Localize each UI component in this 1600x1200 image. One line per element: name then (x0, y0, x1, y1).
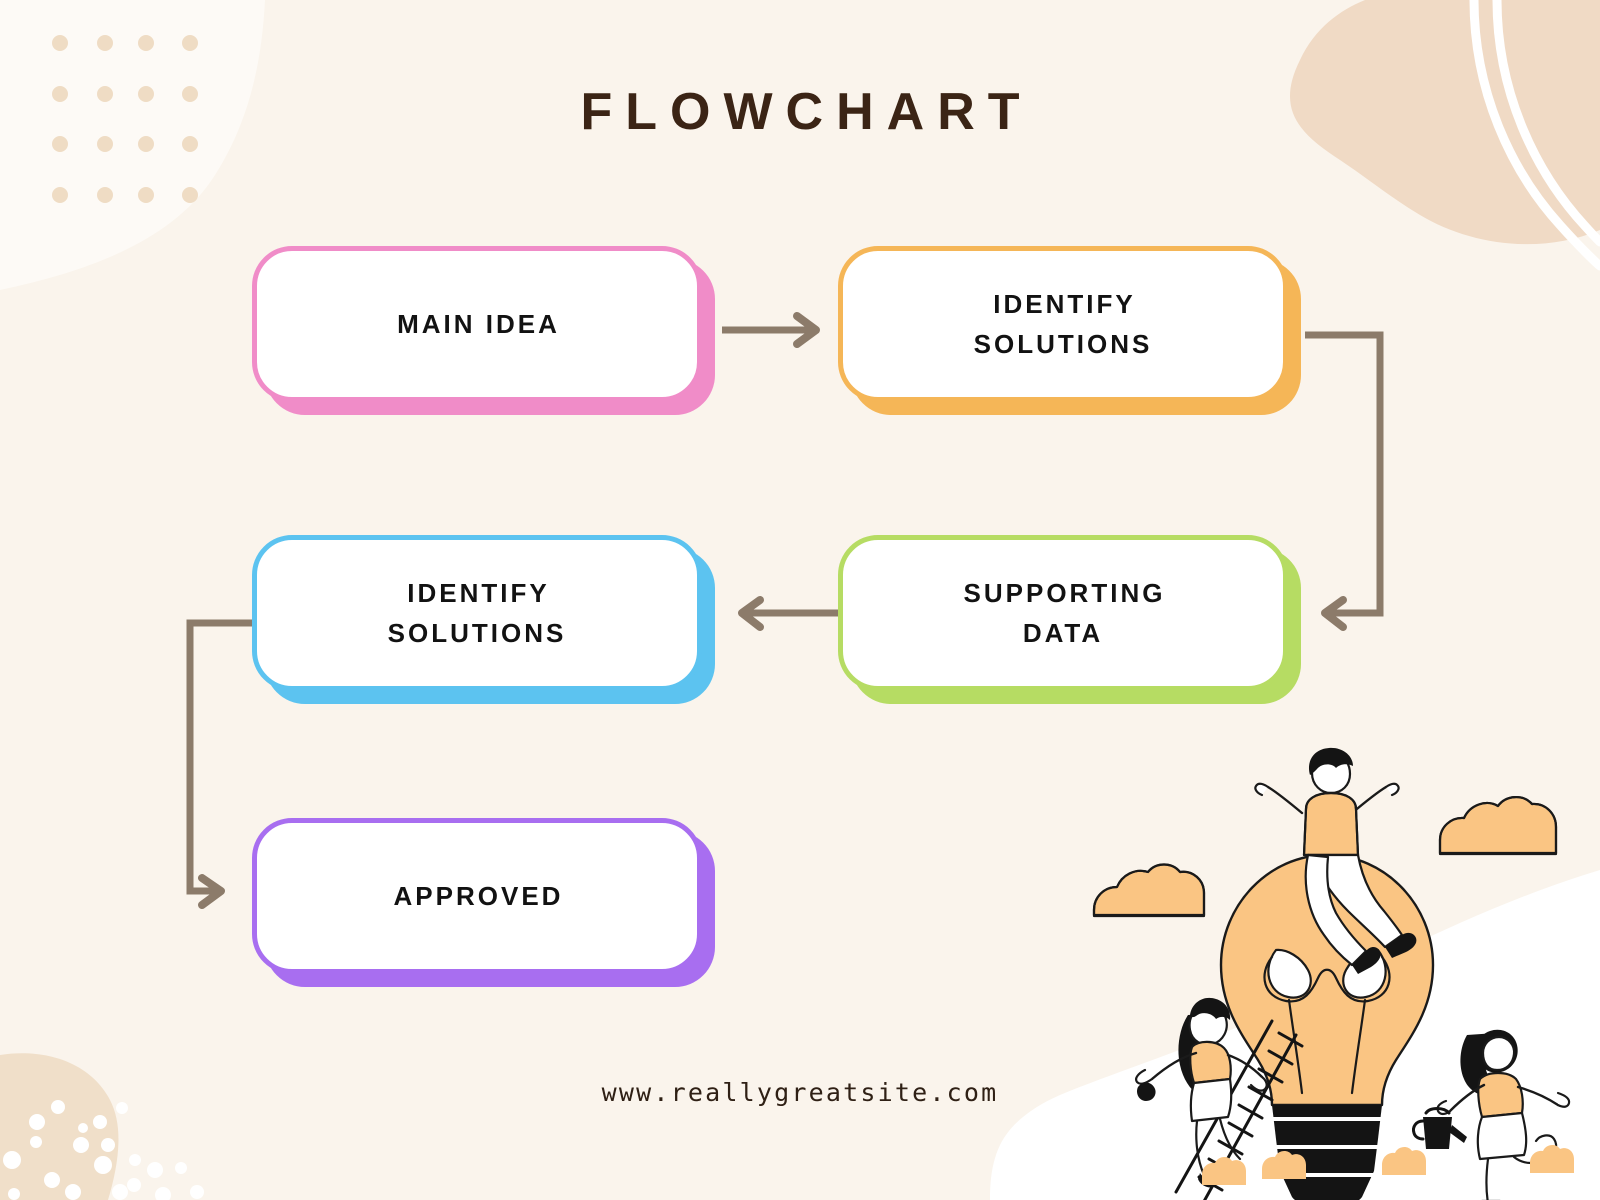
flowchart-poster: FLOWCHART MAIN IDEA IDENTIFY S (0, 0, 1600, 1200)
edge-identify-mid-to-approved (190, 623, 252, 891)
node-face: IDENTIFY SOLUTIONS (252, 535, 702, 691)
flow-node-approved[interactable]: APPROVED (252, 818, 702, 974)
node-face: IDENTIFY SOLUTIONS (838, 246, 1288, 402)
flow-node-main-idea[interactable]: MAIN IDEA (252, 246, 702, 402)
node-face: SUPPORTING DATA (838, 535, 1288, 691)
edge-identify-top-to-supporting-data (1305, 335, 1380, 613)
node-face: APPROVED (252, 818, 702, 974)
flow-node-label: IDENTIFY SOLUTIONS (974, 284, 1153, 365)
flow-node-identify-solutions-mid[interactable]: IDENTIFY SOLUTIONS (252, 535, 702, 691)
cloud-left-icon (1094, 865, 1204, 917)
flow-node-label: MAIN IDEA (394, 304, 560, 344)
flow-node-identify-solutions-top[interactable]: IDENTIFY SOLUTIONS (838, 246, 1288, 402)
flow-node-supporting-data[interactable]: SUPPORTING DATA (838, 535, 1288, 691)
cloud-right-icon (1440, 797, 1556, 854)
person-with-watering-can-icon (1413, 1030, 1569, 1200)
flow-node-label: SUPPORTING DATA (961, 573, 1166, 654)
flow-node-label: APPROVED (391, 876, 564, 916)
flow-node-label: IDENTIFY SOLUTIONS (388, 573, 567, 654)
node-face: MAIN IDEA (252, 246, 702, 402)
site-url[interactable]: www.reallygreatsite.com (0, 1078, 1600, 1107)
lightbulb-teamwork-illustration (1040, 735, 1600, 1200)
